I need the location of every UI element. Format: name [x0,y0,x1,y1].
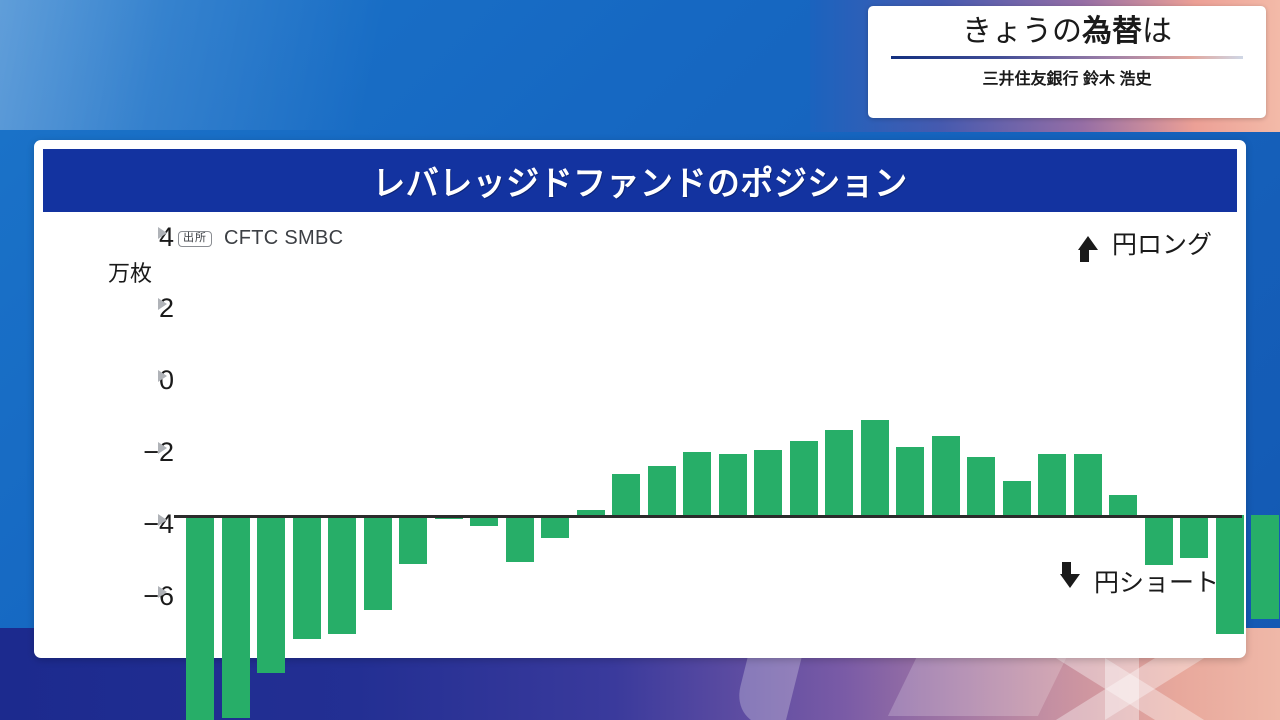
program-title-part2: は [1142,15,1172,48]
bar [683,452,711,515]
y-tick-marker [158,370,167,382]
chart-title: レバレッジドファンドのポジション [372,156,907,205]
bar [222,515,250,718]
source-badge: 出所 [178,231,212,247]
bar [825,430,853,515]
bar [612,474,640,515]
bar [648,466,676,515]
arrow-down-icon [1060,574,1080,588]
y-tick-marker [158,514,167,526]
bar [1038,454,1066,515]
bar [541,515,569,538]
bar [790,441,818,515]
y-tick-marker [158,227,167,239]
bar [896,447,924,515]
bar [1180,515,1208,558]
program-header-card: きょうの為替は 三井住友銀行 鈴木 浩史 [868,6,1266,118]
bar [932,436,960,515]
chart-card: レバレッジドファンドのポジション 出所 CFTC SMBC 円ロング 円ショート… [34,140,1246,658]
arrow-up-icon [1078,236,1098,250]
header-divider [891,56,1243,59]
bar [967,457,995,515]
legend-yen-long-label: 円ロング [1112,225,1212,261]
bar [861,420,889,515]
legend-yen-short-label: 円ショート [1094,563,1219,599]
chart-plot-area: 出所 CFTC SMBC 円ロング 円ショート 4 万枚 2 0 −2 −4 −… [34,220,1246,658]
y-tick-marker [158,586,167,598]
bar [293,515,321,639]
bar [186,515,214,720]
legend-yen-short: 円ショート [1060,563,1219,599]
source-text: CFTC SMBC [224,227,343,250]
program-title-part1: きょうの [962,15,1082,48]
program-subtitle: 三井住友銀行 鈴木 浩史 [983,65,1152,89]
y-tick-marker [158,442,167,454]
bar [1003,481,1031,515]
bar [1216,515,1244,634]
legend-yen-long: 円ロング [1078,225,1212,261]
bar [364,515,392,610]
bar [1145,515,1173,565]
chart-title-bar: レバレッジドファンドのポジション [43,149,1237,212]
program-title: きょうの為替は [962,13,1172,51]
bar [719,454,747,515]
y-axis-unit: 万枚 [108,256,152,288]
background-glow [0,0,900,130]
bar [328,515,356,634]
bar [399,515,427,564]
bar [1074,454,1102,515]
bar [257,515,285,673]
zero-baseline [174,515,1242,518]
bar [506,515,534,562]
bar [754,450,782,515]
program-title-keyword: 為替 [1082,15,1142,48]
y-tick-marker [158,298,167,310]
bar [1109,495,1137,515]
bar [1251,515,1279,619]
